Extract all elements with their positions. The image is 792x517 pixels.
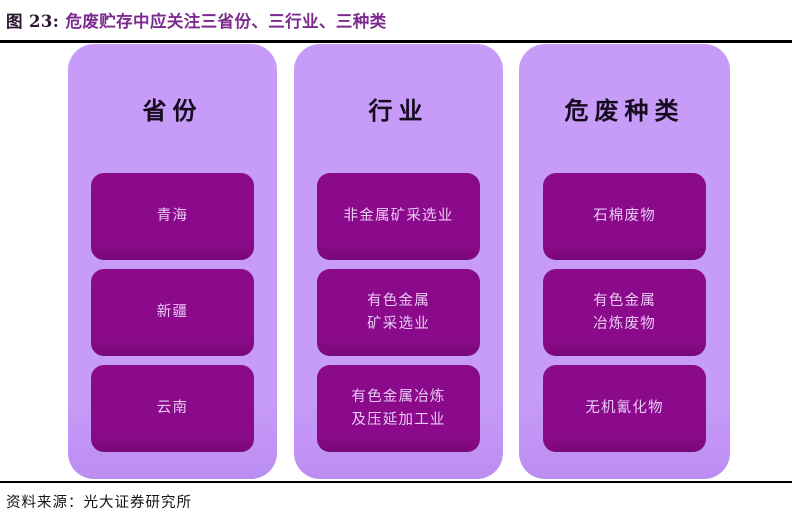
column-header-waste-type: 危废种类	[519, 92, 730, 130]
card-line: 有色金属	[593, 290, 656, 313]
card-province-3[interactable]: 云南	[91, 365, 254, 452]
card-province-2[interactable]: 新疆	[91, 269, 254, 356]
figure-number: 图 23:	[6, 12, 59, 31]
card-industry-1[interactable]: 非金属矿采选业	[317, 173, 480, 260]
card-group-waste-type: 石棉废物 有色金属 冶炼废物 无机氰化物	[519, 173, 730, 452]
card-waste-type-2[interactable]: 有色金属 冶炼废物	[543, 269, 706, 356]
figure-title-text: 危废贮存中应关注三省份、三行业、三种类	[65, 12, 386, 31]
card-line: 青海	[157, 205, 188, 228]
card-group-industry: 非金属矿采选业 有色金属 矿采选业 有色金属冶炼 及压延加工业	[294, 173, 503, 452]
card-line: 有色金属	[367, 290, 430, 313]
card-waste-type-3[interactable]: 无机氰化物	[543, 365, 706, 452]
column-header-province: 省份	[68, 92, 277, 130]
card-line: 有色金属冶炼	[351, 386, 445, 409]
diagram-column-waste-type: 危废种类 石棉废物 有色金属 冶炼废物 无机氰化物	[519, 44, 730, 479]
card-line: 新疆	[157, 301, 188, 324]
diagram-column-industry: 行业 非金属矿采选业 有色金属 矿采选业 有色金属冶炼 及压延加工业	[294, 44, 503, 479]
page-title: 图 23: 危废贮存中应关注三省份、三行业、三种类	[6, 8, 387, 32]
card-waste-type-1[interactable]: 石棉废物	[543, 173, 706, 260]
card-line: 矿采选业	[367, 313, 430, 336]
figure-source: 资料来源：光大证券研究所	[6, 487, 192, 515]
diagram-column-province: 省份 青海 新疆 云南	[68, 44, 277, 479]
card-line: 石棉废物	[593, 205, 656, 228]
source-text: 资料来源：光大证券研究所	[6, 491, 192, 512]
card-province-1[interactable]: 青海	[91, 173, 254, 260]
card-line: 及压延加工业	[351, 409, 445, 432]
card-line: 无机氰化物	[585, 397, 664, 420]
card-industry-2[interactable]: 有色金属 矿采选业	[317, 269, 480, 356]
card-industry-3[interactable]: 有色金属冶炼 及压延加工业	[317, 365, 480, 452]
card-group-province: 青海 新疆 云南	[68, 173, 277, 452]
card-line: 非金属矿采选业	[344, 205, 454, 228]
card-line: 冶炼废物	[593, 313, 656, 336]
column-header-industry: 行业	[294, 92, 503, 130]
divider-bottom	[0, 481, 792, 483]
card-line: 云南	[157, 397, 188, 420]
diagram-canvas: 省份 青海 新疆 云南 行业 非金属矿采选业 有色金属 矿采选业 有色金属冶	[0, 43, 792, 481]
figure-title-bar: 图 23: 危废贮存中应关注三省份、三行业、三种类	[0, 0, 792, 40]
